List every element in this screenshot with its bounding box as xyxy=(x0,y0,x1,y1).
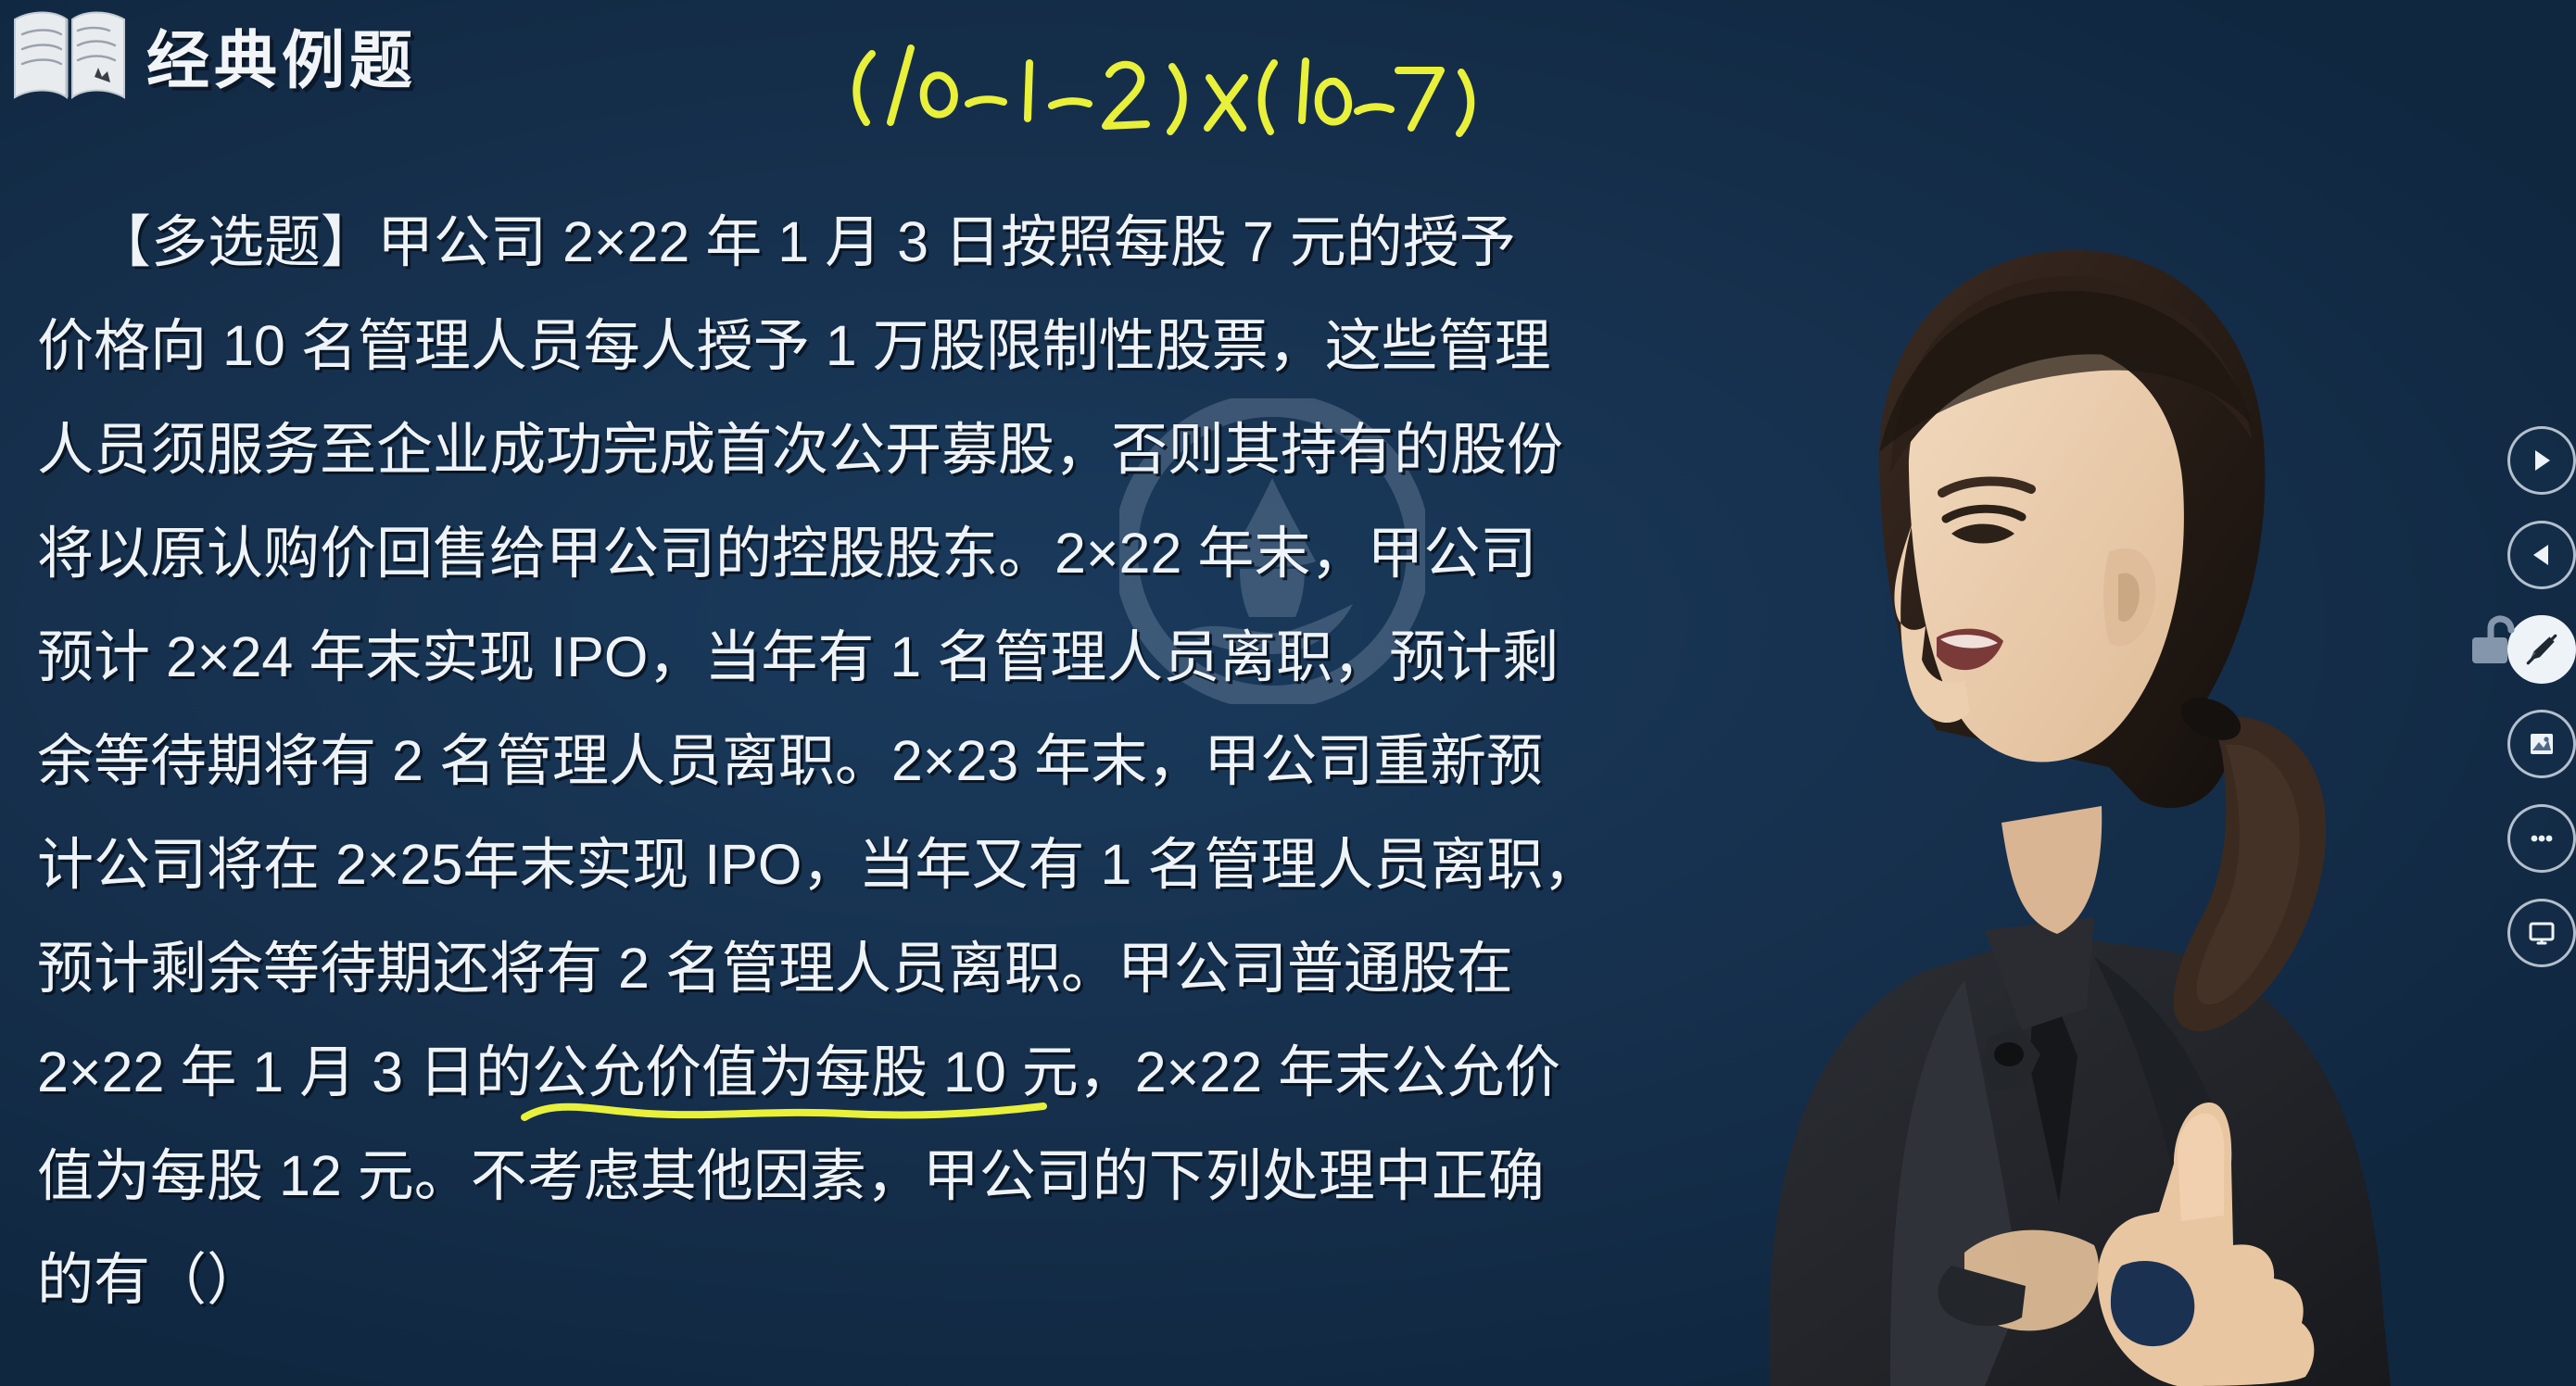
more-dots-icon[interactable] xyxy=(2507,804,2576,873)
screen-icon[interactable] xyxy=(2507,899,2576,967)
play-forward-icon[interactable] xyxy=(2507,426,2576,495)
question-line: 值为每股 12 元。不考虑其他因素，甲公司的下列处理中正确 xyxy=(37,1124,1093,1228)
question-line: 预计剩余等待期还将有 2 名管理人员离职。甲公司普通股在 xyxy=(37,916,1093,1020)
back-arrow-icon[interactable] xyxy=(2507,521,2576,589)
question-line: 计公司将在 2×25年末实现 IPO，当年又有 1 名管理人员离职， xyxy=(37,813,1093,916)
lecture-slide-screen: 经典例题 【多选题】甲公司 2×22 年 1 月 3 日按照每股 7 元的授予 … xyxy=(0,0,2576,1386)
question-line: 【多选题】甲公司 2×22 年 1 月 3 日按照每股 7 元的授予 xyxy=(37,190,1093,294)
question-line: 的有（） xyxy=(37,1228,1093,1331)
question-line: 将以原认购价回售给甲公司的控股股东。2×22 年末，甲公司 xyxy=(37,501,1093,605)
open-book-icon xyxy=(9,5,130,105)
question-line: 2×22 年 1 月 3 日的公允价值为每股 10 元，2×22 年末公允价 xyxy=(37,1020,1093,1124)
slide-header: 经典例题 xyxy=(0,0,417,109)
question-line: 价格向 10 名管理人员每人授予 1 万股限制性股票，这些管理 xyxy=(37,294,1093,397)
question-line: 预计 2×24 年末实现 IPO，当年有 1 名管理人员离职，预计剩 xyxy=(37,605,1093,709)
presenter-video xyxy=(1659,119,2493,1386)
side-toolbar[interactable] xyxy=(2507,426,2576,967)
unlock-icon[interactable] xyxy=(2467,613,2524,667)
question-line: 余等待期将有 2 名管理人员离职。2×23 年末，甲公司重新预 xyxy=(37,709,1093,813)
eraser-board-icon[interactable] xyxy=(2507,710,2576,778)
page-title: 经典例题 xyxy=(146,9,417,101)
question-text: 【多选题】甲公司 2×22 年 1 月 3 日按照每股 7 元的授予 价格向 1… xyxy=(37,190,1093,1331)
question-line: 人员须服务至企业成功完成首次公开募股，否则其持有的股份 xyxy=(37,397,1093,501)
